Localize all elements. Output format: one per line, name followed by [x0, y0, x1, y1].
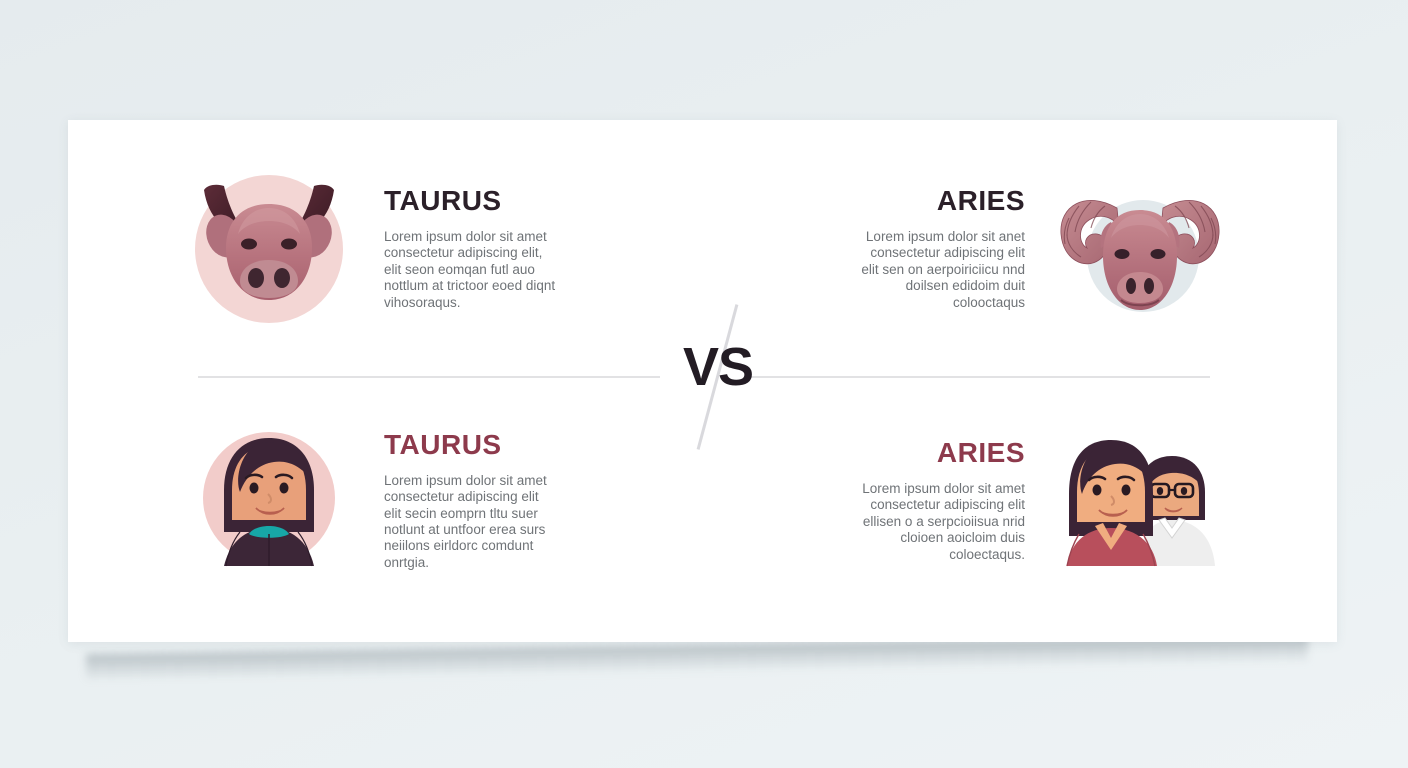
row-top-right-text: ARIES Lorem ipsum dolor sit anet consect…	[785, 187, 1025, 311]
description-text: Lorem ipsum dolor sit amet consectetur a…	[384, 229, 624, 311]
description-text: Lorem ipsum dolor sit anet consectetur a…	[785, 229, 1025, 311]
page-title: ARIES	[785, 187, 1025, 215]
row-bottom-right-text: ARIES Lorem ipsum dolor sit amet consect…	[785, 439, 1025, 563]
description-text: Lorem ipsum dolor sit amet consectetur a…	[384, 473, 624, 572]
description-text: Lorem ipsum dolor sit amet consectetur a…	[785, 481, 1025, 563]
row-top-left-side: TAURUS Lorem ipsum dolor sit amet consec…	[184, 164, 704, 334]
ram-head-icon	[1055, 164, 1225, 334]
bull-head-icon	[184, 164, 354, 334]
page-title: ARIES	[785, 439, 1025, 467]
divider-left	[198, 376, 660, 378]
row-bottom-left-side: TAURUS Lorem ipsum dolor sit amet consec…	[184, 416, 704, 586]
page-title: TAURUS	[384, 431, 624, 459]
row-bottom-left-text: TAURUS Lorem ipsum dolor sit amet consec…	[384, 431, 624, 572]
divider-right	[750, 376, 1210, 378]
page-title: TAURUS	[384, 187, 624, 215]
woman-avatar-icon	[184, 416, 354, 586]
comparison-card: TAURUS Lorem ipsum dolor sit amet consec…	[68, 120, 1337, 642]
comparison-row-bottom: TAURUS Lorem ipsum dolor sit amet consec…	[68, 386, 1337, 616]
row-bottom-right-side: ARIES Lorem ipsum dolor sit amet consect…	[705, 416, 1225, 586]
row-top-left-text: TAURUS Lorem ipsum dolor sit amet consec…	[384, 187, 624, 311]
couple-avatar-icon	[1055, 416, 1225, 586]
